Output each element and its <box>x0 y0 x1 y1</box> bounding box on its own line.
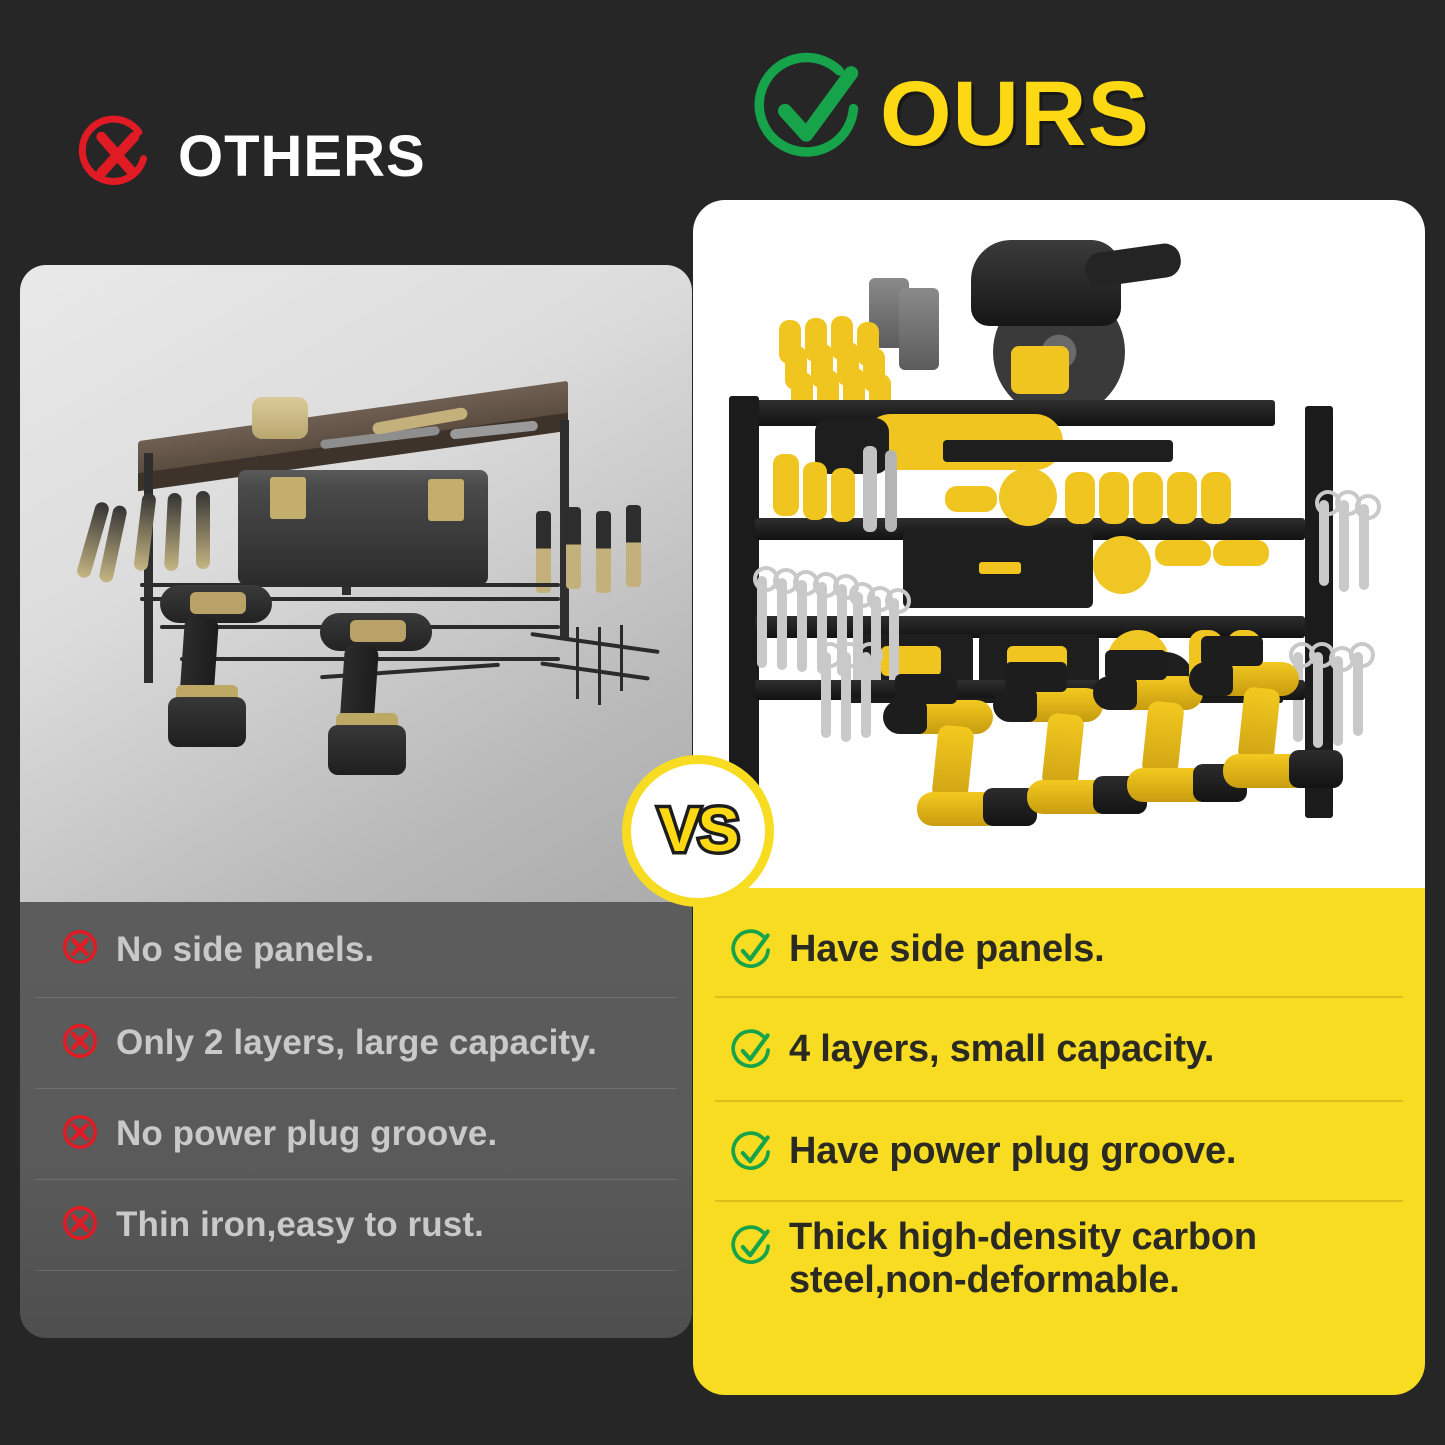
list-item-label: Have side panels. <box>789 928 1105 971</box>
cordless-drill <box>1099 676 1203 710</box>
list-item-label: Thin iron,easy to rust. <box>116 1205 484 1245</box>
others-header: OTHERS <box>78 115 426 198</box>
list-item: Thick high-density carbon steel,non-defo… <box>715 1202 1403 1342</box>
hanging-rod <box>620 625 623 691</box>
ours-feature-list: Have side panels. 4 layers, small capaci… <box>693 888 1425 1395</box>
clamp <box>1201 472 1231 524</box>
clamp <box>945 486 997 512</box>
circle-x-icon <box>60 1112 100 1157</box>
circle-x-icon <box>60 927 100 972</box>
list-item-label: Have power plug groove. <box>789 1130 1236 1173</box>
vs-label: VS <box>659 800 738 862</box>
circle-check-icon <box>729 928 775 979</box>
list-item: Have side panels. <box>715 902 1403 998</box>
wrench <box>1353 652 1363 736</box>
circle-check-icon <box>729 1224 775 1275</box>
list-item-label: Only 2 layers, large capacity. <box>116 1023 597 1063</box>
tool-box-latch <box>270 477 306 519</box>
pliers <box>773 454 799 516</box>
coiled-strap <box>999 468 1057 526</box>
list-item: 4 layers, small capacity. <box>715 998 1403 1102</box>
wrench <box>861 652 871 738</box>
screwdriver <box>626 505 641 587</box>
others-product-image <box>20 265 692 902</box>
wrench <box>797 580 807 672</box>
saw-guard <box>1011 346 1069 394</box>
pliers <box>803 462 827 520</box>
comparison-infographic: OTHERS OURS <box>0 0 1445 1445</box>
wrench <box>841 652 851 742</box>
list-item-label: No power plug groove. <box>116 1114 497 1154</box>
adjustable-wrench <box>885 450 897 532</box>
pliers <box>164 493 182 572</box>
pliers <box>831 468 855 522</box>
tool-box-latch <box>428 479 464 521</box>
wrench <box>1339 500 1349 592</box>
cordless-drill <box>160 585 272 623</box>
ours-header: OURS <box>752 52 1150 175</box>
hanging-rod <box>598 627 601 705</box>
wrench <box>1313 652 1323 748</box>
cordless-drill <box>889 700 993 734</box>
clamp <box>1099 472 1129 524</box>
power-tool-body <box>815 418 889 474</box>
pliers <box>196 491 210 569</box>
wrench <box>821 652 831 738</box>
tool-case-latch <box>979 562 1021 574</box>
wrench <box>1359 504 1369 590</box>
wrench <box>1333 656 1343 746</box>
circle-x-icon <box>60 1021 100 1066</box>
clamp <box>1065 472 1095 524</box>
cordless-drill <box>1195 662 1299 696</box>
ours-header-label: OURS <box>880 68 1150 160</box>
cordless-drill <box>999 688 1103 722</box>
adjustable-wrench <box>863 446 877 532</box>
list-item-label: No side panels. <box>116 930 374 970</box>
ours-product-image <box>693 200 1425 895</box>
screwdriver <box>596 511 611 593</box>
wrench <box>757 576 767 668</box>
clamp <box>1133 472 1163 524</box>
wire-rail <box>540 661 649 680</box>
others-feature-list: No side panels. Only 2 layers, large cap… <box>20 902 692 1338</box>
others-header-label: OTHERS <box>178 128 426 186</box>
wrench <box>777 578 787 670</box>
list-item-label: Thick high-density carbon steel,non-defo… <box>789 1216 1403 1301</box>
circle-x-icon <box>60 1203 100 1248</box>
tape-measure <box>252 397 308 439</box>
clamp <box>1155 540 1211 566</box>
list-item: Only 2 layers, large capacity. <box>36 998 676 1089</box>
rack-side-panel <box>729 396 759 826</box>
clamp <box>1167 472 1197 524</box>
circle-check-icon <box>729 1130 775 1181</box>
list-item: Have power plug groove. <box>715 1102 1403 1202</box>
canister <box>899 288 939 370</box>
list-item: No power plug groove. <box>36 1089 676 1180</box>
pliers <box>133 492 156 571</box>
circle-check-icon <box>752 52 870 175</box>
circle-check-icon <box>729 1028 775 1079</box>
circle-x-icon <box>78 115 156 198</box>
list-item: Thin iron,easy to rust. <box>36 1180 676 1271</box>
vs-badge: VS <box>622 755 774 907</box>
screwdriver <box>566 507 581 589</box>
screwdriver <box>536 511 551 593</box>
wire-rail <box>530 632 659 654</box>
others-card: No side panels. Only 2 layers, large cap… <box>20 265 692 1338</box>
list-item: No side panels. <box>36 902 676 998</box>
list-item-label: 4 layers, small capacity. <box>789 1028 1214 1071</box>
cordless-drill <box>320 613 432 651</box>
hanging-rod <box>576 627 579 699</box>
tool-rail <box>943 440 1173 462</box>
clamp <box>1213 540 1269 566</box>
coiled-strap <box>1093 536 1151 594</box>
wrench <box>1319 500 1329 586</box>
